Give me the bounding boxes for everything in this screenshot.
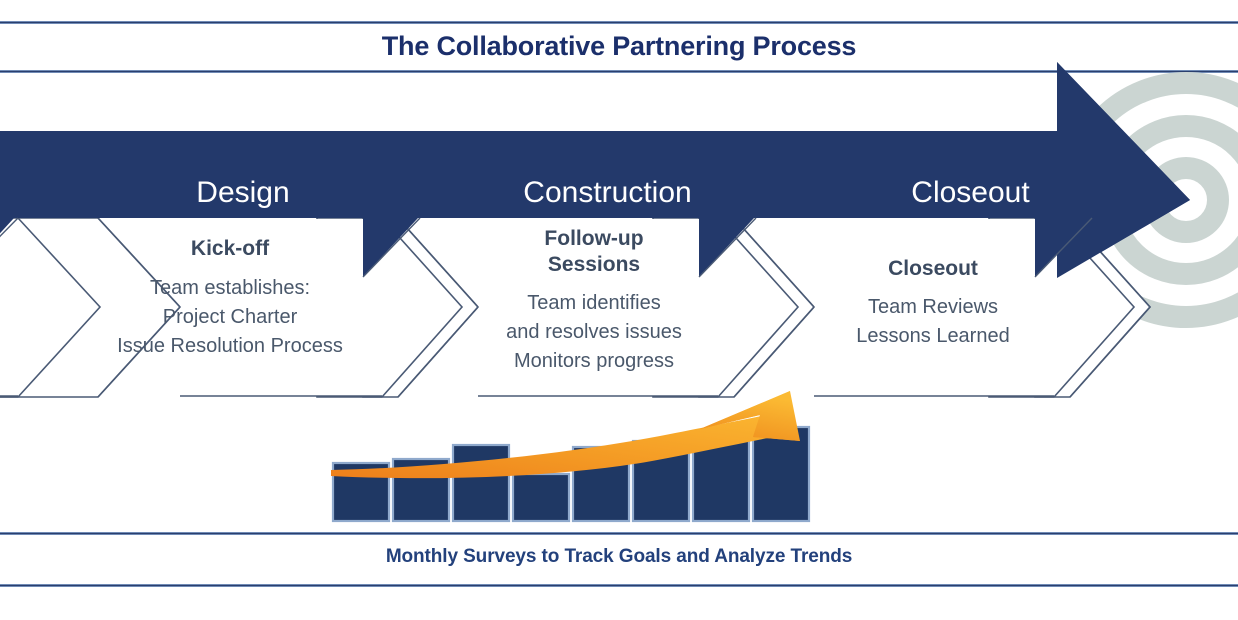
diagram-canvas: The Collaborative Partnering Process Mon… [0,0,1238,620]
stage-construction-heading-1: Follow-up [478,226,710,252]
stage-construction-line-1: Team identifies [478,289,710,318]
phase-label-design: Design [158,176,328,210]
bar-4 [513,474,569,521]
stage-design: Kick-off Team establishes: Project Chart… [100,236,360,361]
stage-construction-heading-2: Sessions [478,252,710,278]
stage-closeout: Closeout Team Reviews Lessons Learned [817,256,1049,351]
bar-chart [331,391,809,521]
phase-label-closeout: Closeout [858,176,1083,210]
stage-design-line-2: Project Charter [100,303,360,332]
bar-8 [753,427,809,521]
stage-construction-line-3: Monitors progress [478,347,710,376]
bar-3 [453,445,509,521]
stage-construction-line-2: and resolves issues [478,318,710,347]
stage-closeout-heading: Closeout [817,256,1049,282]
stage-design-heading: Kick-off [100,236,360,262]
phase-label-construction: Construction [490,176,725,210]
stage-design-line-1: Team establishes: [100,274,360,303]
stage-design-line-3: Issue Resolution Process [100,332,360,361]
stage-construction: Follow-up Sessions Team identifies and r… [478,226,710,376]
stage-closeout-line-1: Team Reviews [817,293,1049,322]
stage-closeout-line-2: Lessons Learned [817,322,1049,351]
